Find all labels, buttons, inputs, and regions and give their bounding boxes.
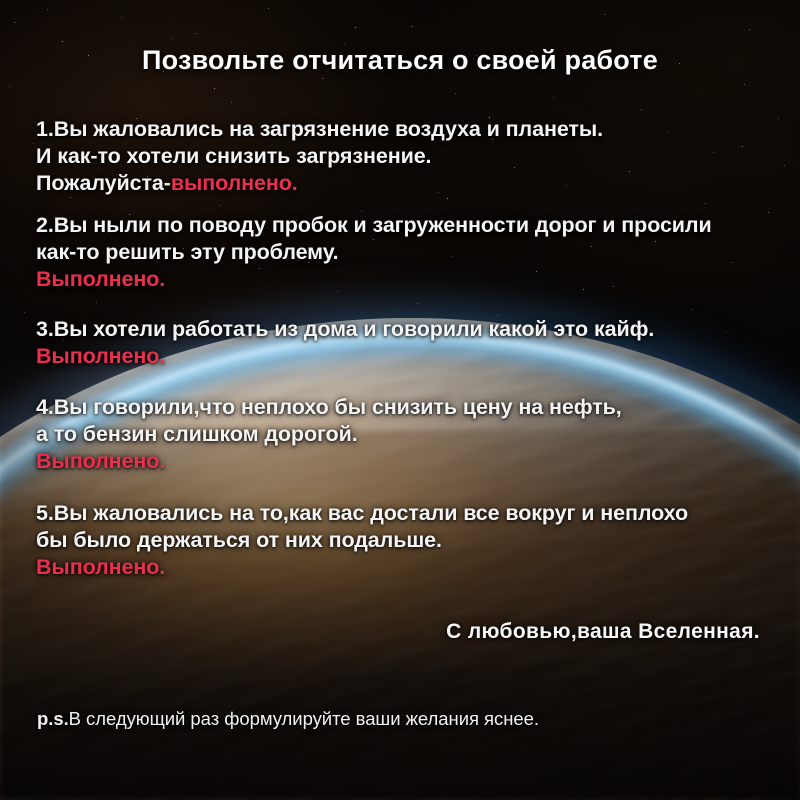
status-prefix: Пожалуйста- <box>36 171 171 195</box>
item-status-line: Выполнено. <box>36 343 776 370</box>
item-line: 2.Вы ныли по поводу пробок и загруженнос… <box>36 212 776 239</box>
list-item: 5.Вы жаловались на то,как вас достали вс… <box>36 500 776 581</box>
list-item: 2.Вы ныли по поводу пробок и загруженнос… <box>36 212 776 293</box>
status-badge: Выполнено. <box>36 555 165 579</box>
item-line: бы было держаться от них подальше. <box>36 527 776 554</box>
list-item: 4.Вы говорили,что неплохо бы снизить цен… <box>36 394 776 475</box>
page-title: Позвольте отчитаться о своей работе <box>0 45 800 76</box>
item-line: 4.Вы говорили,что неплохо бы снизить цен… <box>36 394 776 421</box>
item-status-line: Пожалуйста-выполнено. <box>36 170 776 197</box>
status-badge: выполнено. <box>171 171 298 195</box>
item-status-line: Выполнено. <box>36 554 776 581</box>
text-content-layer: Позвольте отчитаться о своей работе 1.Вы… <box>0 0 800 800</box>
item-status-line: Выполнено. <box>36 266 776 293</box>
item-line: как-то решить эту проблему. <box>36 239 776 266</box>
poster-image: Позвольте отчитаться о своей работе 1.Вы… <box>0 0 800 800</box>
item-line: 5.Вы жаловались на то,как вас достали вс… <box>36 500 776 527</box>
item-line: 1.Вы жаловались на загрязнение воздуха и… <box>36 116 776 143</box>
postscript-line: p.s.В следующий раз формулируйте ваши же… <box>37 708 539 730</box>
item-status-line: Выполнено. <box>36 448 776 475</box>
item-line: И как-то хотели снизить загрязнение. <box>36 143 776 170</box>
postscript-tag: p.s. <box>37 708 69 729</box>
postscript-text: В следующий раз формулируйте ваши желани… <box>69 708 539 729</box>
list-item: 3.Вы хотели работать из дома и говорили … <box>36 316 776 370</box>
item-line: 3.Вы хотели работать из дома и говорили … <box>36 316 776 343</box>
status-badge: Выполнено. <box>36 449 165 473</box>
list-item: 1.Вы жаловались на загрязнение воздуха и… <box>36 116 776 197</box>
status-badge: Выполнено. <box>36 344 165 368</box>
item-line: а то бензин слишком дорогой. <box>36 421 776 448</box>
signature-line: С любовью,ваша Вселенная. <box>0 620 760 644</box>
status-badge: Выполнено. <box>36 267 165 291</box>
